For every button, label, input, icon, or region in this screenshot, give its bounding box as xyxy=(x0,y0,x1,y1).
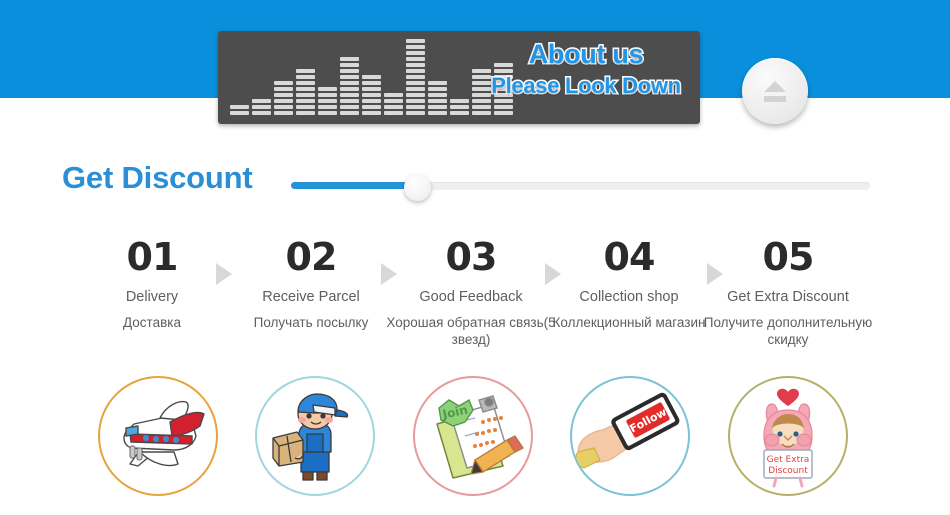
step-01: 01DeliveryДоставка xyxy=(64,238,240,332)
equalizer-segment xyxy=(428,93,447,97)
equalizer-segment xyxy=(362,93,381,97)
equalizer-segment xyxy=(494,99,513,103)
equalizer-column xyxy=(318,87,337,115)
arrow-right-triangle-icon xyxy=(216,263,232,285)
equalizer-segment xyxy=(340,75,359,79)
step-number: 01 xyxy=(64,238,240,276)
equalizer-segment xyxy=(406,87,425,91)
equalizer-segment xyxy=(340,69,359,73)
equalizer-segment xyxy=(340,57,359,61)
equalizer-column xyxy=(362,75,381,115)
equalizer-segment xyxy=(406,51,425,55)
equalizer-column xyxy=(296,69,315,115)
equalizer-segment xyxy=(274,93,293,97)
arrow-right-triangle-icon xyxy=(707,263,723,285)
equalizer-segment xyxy=(252,111,271,115)
get-discount-title: Get Discount xyxy=(62,160,253,196)
equalizer-segment xyxy=(406,99,425,103)
step-label-ru: Коллекционный магазин xyxy=(541,315,717,332)
equalizer-segment xyxy=(340,99,359,103)
step-label-en: Delivery xyxy=(64,288,240,306)
equalizer-segment xyxy=(274,99,293,103)
equalizer-segment xyxy=(428,99,447,103)
hand-phone-follow-icon: Follow xyxy=(570,376,690,496)
equalizer-segment xyxy=(296,105,315,109)
equalizer-segment xyxy=(428,111,447,115)
equalizer-segment xyxy=(296,75,315,79)
equalizer-segment xyxy=(384,99,403,103)
equalizer-segment xyxy=(406,63,425,67)
equalizer-segment xyxy=(318,111,337,115)
equalizer-segment xyxy=(384,105,403,109)
step-label-ru: Доставка xyxy=(64,315,240,332)
eject-button[interactable] xyxy=(742,58,808,124)
equalizer-segment xyxy=(406,69,425,73)
equalizer-segment xyxy=(384,111,403,115)
equalizer-column xyxy=(340,57,359,115)
equalizer-segment xyxy=(296,111,315,115)
equalizer-segment xyxy=(428,81,447,85)
equalizer-segment xyxy=(450,105,469,109)
step-label-en: Get Extra Discount xyxy=(700,288,876,306)
discount-slider-knob[interactable] xyxy=(404,174,431,201)
steps-row: 01DeliveryДоставка02Receive ParcelПолуча… xyxy=(0,238,950,368)
step-number: 02 xyxy=(223,238,399,276)
equalizer-segment xyxy=(406,105,425,109)
equalizer-segment xyxy=(252,99,271,103)
equalizer-segment xyxy=(340,87,359,91)
eject-icon xyxy=(764,81,786,92)
equalizer-segment xyxy=(340,63,359,67)
discount-slider-track[interactable] xyxy=(418,182,870,190)
equalizer-column xyxy=(252,99,271,115)
equalizer-column xyxy=(230,105,249,115)
equalizer-segment xyxy=(494,105,513,109)
equalizer-segment xyxy=(450,99,469,103)
equalizer-segment xyxy=(472,111,491,115)
step-number: 04 xyxy=(541,238,717,276)
promo-banner-page: About us Please Look Down Get Discount 0… xyxy=(0,0,950,515)
equalizer-segment xyxy=(274,105,293,109)
equalizer-segment xyxy=(296,81,315,85)
step-number: 03 xyxy=(383,238,559,276)
equalizer-segment xyxy=(428,87,447,91)
equalizer-segment xyxy=(362,75,381,79)
get-discount-row: Get Discount xyxy=(0,160,950,212)
about-us-panel: About us Please Look Down xyxy=(218,31,700,124)
equalizer-segment xyxy=(362,99,381,103)
arrow-right-triangle-icon xyxy=(545,263,561,285)
svg-text:Discount: Discount xyxy=(768,466,808,476)
equalizer-column xyxy=(450,99,469,115)
equalizer-segment xyxy=(428,105,447,109)
equalizer-segment xyxy=(472,105,491,109)
equalizer-segment xyxy=(296,93,315,97)
equalizer-segment xyxy=(494,111,513,115)
svg-text:Get Extra: Get Extra xyxy=(767,455,810,465)
bunny-sign-icon: Get Extra Discount xyxy=(728,376,848,496)
equalizer-segment xyxy=(406,75,425,79)
step-icons-row: Join Follow xyxy=(0,376,950,506)
equalizer-segment xyxy=(340,81,359,85)
equalizer-column xyxy=(406,39,425,115)
equalizer-segment xyxy=(318,93,337,97)
equalizer-segment xyxy=(318,99,337,103)
step-label-ru: Хорошая обратная связь(5 звезд) xyxy=(383,315,559,349)
step-03: 03Good FeedbackХорошая обратная связь(5 … xyxy=(383,238,559,349)
equalizer-segment xyxy=(296,69,315,73)
step-label-ru: Получите дополнительную скидку xyxy=(700,315,876,349)
equalizer-segment xyxy=(318,105,337,109)
equalizer-column xyxy=(384,93,403,115)
equalizer-segment xyxy=(362,87,381,91)
equalizer-segment xyxy=(340,93,359,97)
equalizer-segment xyxy=(230,111,249,115)
about-us-title: About us xyxy=(480,41,692,68)
equalizer-segment xyxy=(406,93,425,97)
equalizer-column xyxy=(428,81,447,115)
equalizer-segment xyxy=(406,45,425,49)
step-02: 02Receive ParcelПолучать посылку xyxy=(223,238,399,332)
airplane-icon xyxy=(98,376,218,496)
equalizer-segment xyxy=(296,87,315,91)
step-04: 04Collection shopКоллекционный магазин xyxy=(541,238,717,332)
equalizer-segment xyxy=(274,111,293,115)
equalizer-segment xyxy=(406,39,425,43)
equalizer-segment xyxy=(274,87,293,91)
equalizer-segment xyxy=(252,105,271,109)
equalizer-segment xyxy=(362,81,381,85)
equalizer-segment xyxy=(362,111,381,115)
step-label-en: Collection shop xyxy=(541,288,717,306)
equalizer-segment xyxy=(472,99,491,103)
step-number: 05 xyxy=(700,238,876,276)
equalizer-segment xyxy=(318,87,337,91)
equalizer-segment xyxy=(274,81,293,85)
equalizer-bars-icon xyxy=(230,39,513,115)
arrow-right-triangle-icon xyxy=(381,263,397,285)
equalizer-column xyxy=(274,81,293,115)
equalizer-segment xyxy=(230,105,249,109)
about-us-subtitle: Please Look Down xyxy=(480,75,692,97)
equalizer-segment xyxy=(450,111,469,115)
equalizer-segment xyxy=(362,105,381,109)
discount-slider-fill xyxy=(291,182,421,189)
eject-icon-bar xyxy=(764,96,786,102)
equalizer-segment xyxy=(384,93,403,97)
step-label-en: Good Feedback xyxy=(383,288,559,306)
clipboard-review-icon: Join xyxy=(413,376,533,496)
about-us-text-block: About us Please Look Down xyxy=(480,41,692,97)
equalizer-segment xyxy=(340,111,359,115)
equalizer-segment xyxy=(340,105,359,109)
equalizer-segment xyxy=(296,99,315,103)
delivery-man-icon xyxy=(255,376,375,496)
step-05: 05Get Extra DiscountПолучите дополнитель… xyxy=(700,238,876,349)
equalizer-segment xyxy=(406,111,425,115)
equalizer-segment xyxy=(406,57,425,61)
step-label-en: Receive Parcel xyxy=(223,288,399,306)
step-label-ru: Получать посылку xyxy=(223,315,399,332)
equalizer-segment xyxy=(406,81,425,85)
